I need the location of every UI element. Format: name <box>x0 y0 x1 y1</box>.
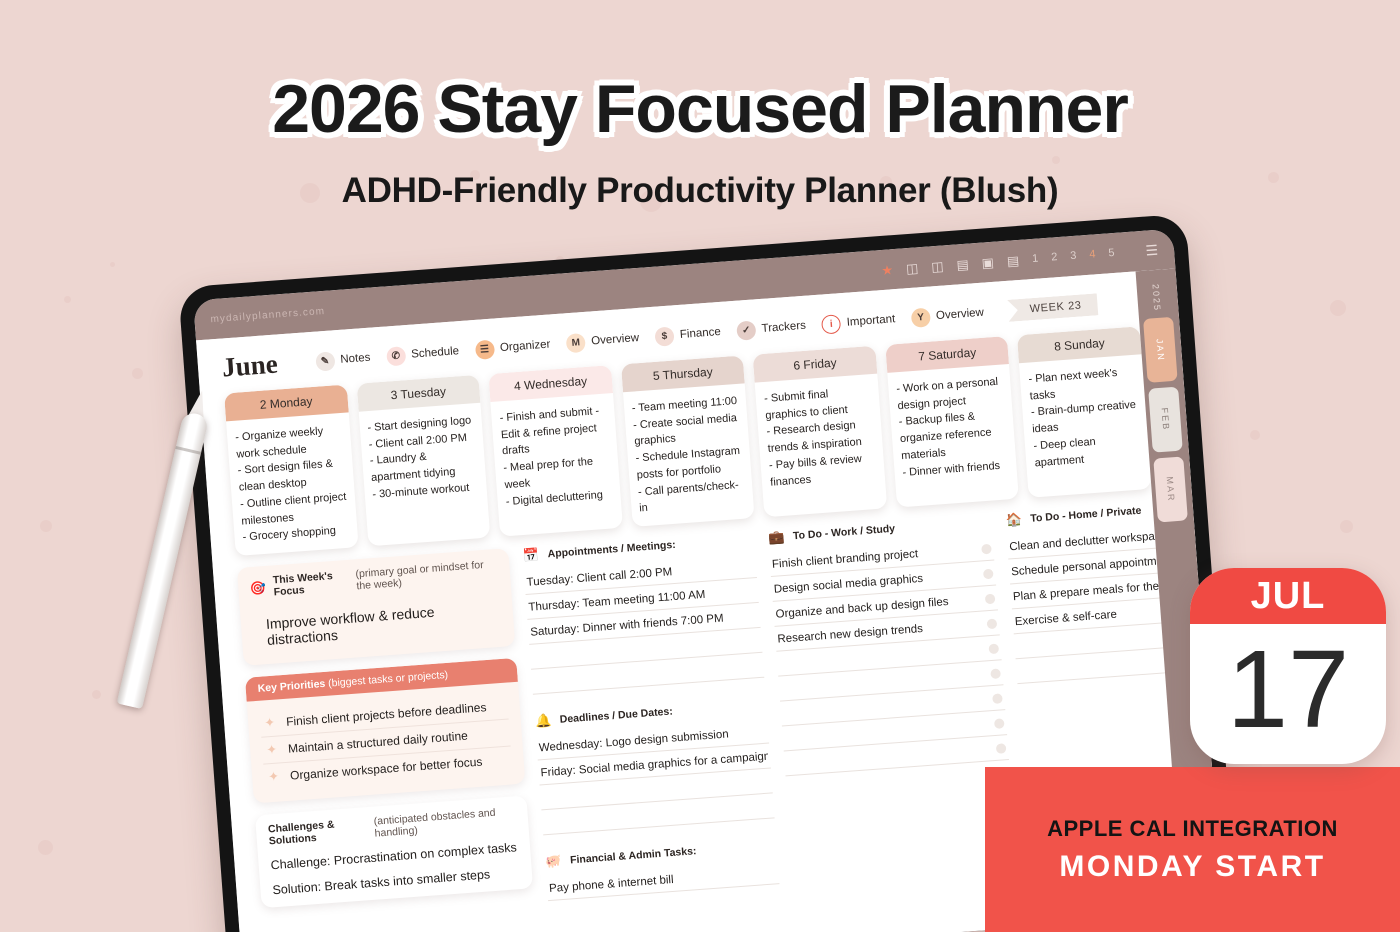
month-title: June <box>221 349 279 384</box>
day-card[interactable]: 6 Friday - Submit final graphics to clie… <box>753 346 887 518</box>
promo-line-1: APPLE CAL INTEGRATION <box>1047 816 1338 842</box>
promo-banner: APPLE CAL INTEGRATION MONDAY START <box>985 767 1400 932</box>
sparkle-icon: ✦ <box>264 715 276 732</box>
nav-label-notes: Notes <box>340 352 371 366</box>
weekly-focus-title: This Week's Focus <box>272 569 350 598</box>
day-card-tasks[interactable]: - Start designing logo - Client call 2:0… <box>358 403 488 513</box>
checkbox-circle[interactable] <box>981 543 992 554</box>
appointments-panel: 📅 Appointments / Meetings: Tuesday: Clie… <box>522 530 764 695</box>
weekly-focus-header: 🎯 This Week's Focus (primary goal or min… <box>248 558 499 600</box>
todo-home-title: To Do - Home / Private <box>1030 504 1142 524</box>
bell-icon: 🔔 <box>534 711 552 729</box>
todo-text <box>785 724 988 739</box>
weekly-focus-value[interactable]: Improve workflow & reduce distractions <box>251 599 503 649</box>
appointments-column: 📅 Appointments / Meetings: Tuesday: Clie… <box>522 530 779 901</box>
nav-item-overview-y[interactable]: Y Overview <box>910 303 984 327</box>
checkbox-circle[interactable] <box>992 693 1003 704</box>
letter-m-icon: M <box>566 332 586 352</box>
checkbox-circle[interactable] <box>985 593 996 604</box>
financial-text: Pay phone & internet bill <box>549 866 777 895</box>
appointment-text <box>534 665 761 682</box>
calendar-icon[interactable]: ◫ <box>931 259 944 273</box>
todo-text <box>781 674 984 689</box>
checkbox-circle[interactable] <box>994 718 1005 729</box>
apple-calendar-month: JUL <box>1190 568 1386 624</box>
day-card-tasks[interactable]: - Team meeting 11:00 - Create social med… <box>623 383 755 527</box>
calendar-icon: 📅 <box>522 546 540 564</box>
focus-priorities-column: 🎯 This Week's Focus (primary goal or min… <box>237 548 534 922</box>
checkbox-circle[interactable] <box>988 643 999 654</box>
challenges-title: Challenges & Solutions <box>268 816 369 847</box>
key-priorities-hint: (biggest tasks or projects) <box>328 669 449 690</box>
nav-item-trackers[interactable]: ✓ Trackers <box>736 316 807 340</box>
piggy-bank-icon: 🐖 <box>545 852 563 870</box>
letter-y-icon: Y <box>910 307 930 327</box>
hamburger-icon: ☰ <box>474 339 494 359</box>
todo-work-panel: 💼 To Do - Work / Study Finish client bra… <box>767 513 1016 883</box>
nav-label-schedule: Schedule <box>411 345 460 360</box>
day-card[interactable]: 7 Saturday - Work on a personal design p… <box>885 336 1019 508</box>
briefcase-icon: 💼 <box>767 528 785 546</box>
sparkle-icon: ✦ <box>266 742 278 759</box>
apple-calendar-day: 17 <box>1190 624 1386 764</box>
challenges-hint: (anticipated obstacles and handling) <box>373 805 516 839</box>
sparkle-icon: ✦ <box>268 769 280 786</box>
pencil-icon: ✎ <box>315 351 335 371</box>
checkbox-circle[interactable] <box>983 568 994 579</box>
nav-label-overview-y: Overview <box>936 307 985 322</box>
challenges-header: Challenges & Solutions (anticipated obst… <box>268 805 517 847</box>
todo-text <box>787 749 990 764</box>
promo-line-2: MONDAY START <box>1059 850 1325 884</box>
dollar-icon: $ <box>654 326 674 346</box>
todo-text <box>783 699 986 714</box>
day-card-tasks[interactable]: - Finish and submit - Edit & refine proj… <box>491 393 622 520</box>
day-card-tasks[interactable]: - Plan next week's tasks - Brain-dump cr… <box>1019 354 1150 481</box>
page-number-4[interactable]: 4 <box>1089 248 1096 260</box>
page-subtitle: ADHD-Friendly Productivity Planner (Blus… <box>0 171 1400 211</box>
nav-label-organizer: Organizer <box>500 338 551 354</box>
star-icon[interactable]: ★ <box>881 263 894 277</box>
hero-text-block: 2026 Stay Focused Planner ADHD-Friendly … <box>0 74 1400 211</box>
clock-icon: ✆ <box>386 346 406 366</box>
day-card-tasks[interactable]: - Work on a personal design project - Ba… <box>887 364 1018 491</box>
financial-title: Financial & Admin Tasks: <box>570 845 697 866</box>
nav-item-finance[interactable]: $ Finance <box>654 322 721 346</box>
nav-label-finance: Finance <box>680 326 722 341</box>
page-number-5[interactable]: 5 <box>1108 247 1115 259</box>
day-card[interactable]: 4 Wednesday - Finish and submit - Edit &… <box>488 365 622 537</box>
deadlines-panel: 🔔 Deadlines / Due Dates: Wednesday: Logo… <box>534 696 774 836</box>
nav-item-organizer[interactable]: ☰ Organizer <box>474 335 551 359</box>
info-icon: i <box>821 314 841 334</box>
stylus-shaft <box>117 411 210 709</box>
checkbox-circle[interactable] <box>990 668 1001 679</box>
month-tab-jan[interactable]: JAN <box>1143 317 1178 383</box>
nav-item-notes[interactable]: ✎ Notes <box>315 348 371 371</box>
clipboard-icon[interactable]: ▣ <box>981 255 994 269</box>
nav-label-trackers: Trackers <box>761 320 806 335</box>
page-number-1[interactable]: 1 <box>1032 253 1039 265</box>
day-card[interactable]: 3 Tuesday - Start designing logo - Clien… <box>356 375 490 547</box>
day-card-tasks[interactable]: - Organize weekly work schedule - Sort d… <box>226 412 358 556</box>
site-watermark: mydailyplanners.com <box>210 305 325 324</box>
nav-label-important: Important <box>846 313 895 329</box>
todo-text <box>779 649 982 664</box>
day-card[interactable]: 8 Sunday - Plan next week's tasks - Brai… <box>1017 326 1151 498</box>
page-title: 2026 Stay Focused Planner <box>0 74 1400 145</box>
month-tab-mar[interactable]: MAR <box>1153 456 1188 522</box>
stack-icon[interactable]: ◫ <box>906 261 919 275</box>
day-card[interactable]: 5 Thursday - Team meeting 11:00 - Create… <box>621 355 755 527</box>
checkbox-circle[interactable] <box>996 743 1007 754</box>
check-icon: ✓ <box>736 320 756 340</box>
page-number-3[interactable]: 3 <box>1070 250 1077 262</box>
key-priorities-panel: Key Priorities (biggest tasks or project… <box>245 658 525 804</box>
key-priorities-title: Key Priorities <box>257 678 325 695</box>
card-icon[interactable]: ▤ <box>956 257 969 271</box>
page-number-2[interactable]: 2 <box>1051 251 1058 263</box>
house-icon: 🏠 <box>1005 510 1023 528</box>
deadlines-title: Deadlines / Due Dates: <box>559 705 673 725</box>
appointments-title: Appointments / Meetings: <box>547 538 676 559</box>
weekly-focus-panel[interactable]: 🎯 This Week's Focus (primary goal or min… <box>237 548 515 666</box>
financial-panel: 🐖 Financial & Admin Tasks: Pay phone & i… <box>545 836 780 901</box>
month-tab-feb[interactable]: FEB <box>1148 387 1183 453</box>
product-mockup-canvas: 2026 Stay Focused Planner ADHD-Friendly … <box>0 0 1400 932</box>
challenges-panel[interactable]: Challenges & Solutions (anticipated obst… <box>255 795 533 908</box>
checkbox-circle[interactable] <box>987 618 998 629</box>
nav-item-overview-m[interactable]: M Overview <box>566 328 640 352</box>
target-icon: 🎯 <box>249 578 267 596</box>
weekly-focus-hint: (primary goal or mindset for the week) <box>355 558 499 592</box>
nav-item-important[interactable]: i Important <box>821 310 896 334</box>
book-icon[interactable]: ▤ <box>1006 253 1019 267</box>
nav-label-overview-m: Overview <box>591 332 640 347</box>
todo-work-title: To Do - Work / Study <box>793 522 896 541</box>
year-label: 2025 <box>1151 284 1163 313</box>
deadline-text <box>544 806 771 823</box>
day-card-tasks[interactable]: - Submit final graphics to client - Rese… <box>755 374 886 501</box>
week-chip[interactable]: WEEK 23 <box>1007 293 1098 322</box>
nav-item-schedule[interactable]: ✆ Schedule <box>386 342 460 366</box>
day-card[interactable]: 2 Monday - Organize weekly work schedule… <box>224 385 358 557</box>
stylus-pen <box>117 411 210 709</box>
list-menu-icon[interactable]: ☰ <box>1145 241 1159 259</box>
solution-line[interactable]: Solution: Break tasks into smaller steps <box>272 865 520 897</box>
key-priorities-list: ✦ Finish client projects before deadline… <box>247 682 526 804</box>
apple-calendar-icon: JUL 17 <box>1190 568 1386 764</box>
